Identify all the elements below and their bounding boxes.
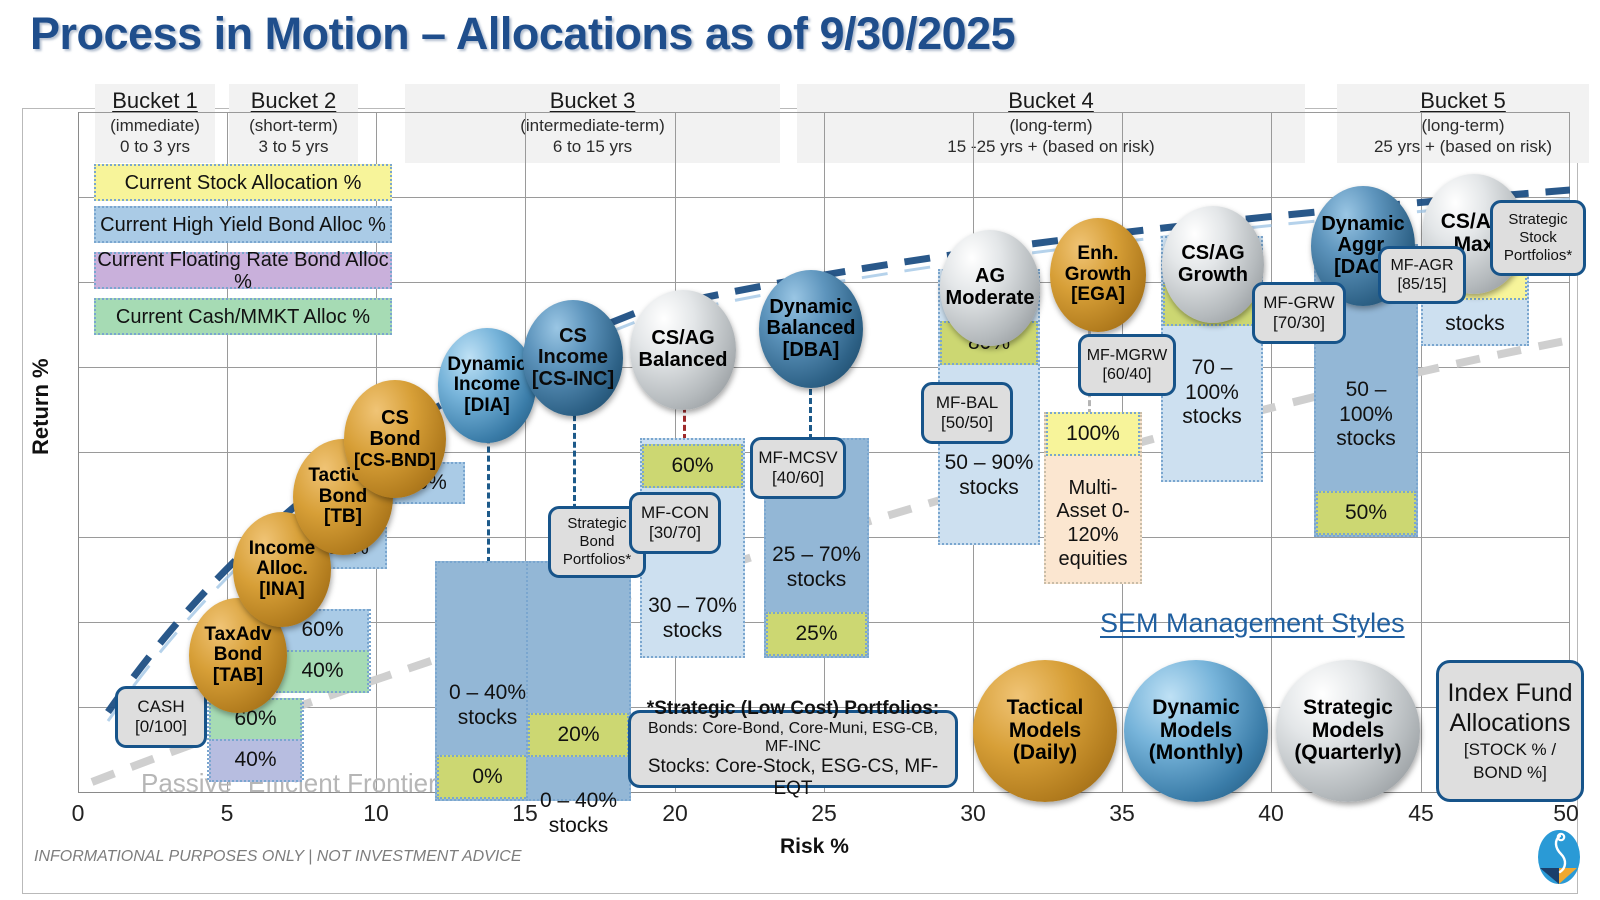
x-tick-20: 20 bbox=[662, 800, 688, 827]
callout-line: MF-MCSV bbox=[758, 448, 837, 468]
bar-enh-growth: 100% Multi-Asset 0-120% equities bbox=[1044, 412, 1142, 584]
bar-range-value: 50 – 90% stocks bbox=[940, 451, 1038, 501]
bar-range-label: Multi-Asset 0-120% equities bbox=[1046, 464, 1140, 584]
bubble-line: Dynamic bbox=[1321, 214, 1404, 236]
bubble-line: [CS-INC] bbox=[532, 369, 614, 391]
bubble-line: [TB] bbox=[324, 507, 362, 528]
callout-strategic-stock-portfolios[interactable]: Strategic Stock Portfolios* bbox=[1490, 200, 1586, 276]
bar-segment-stock: 25% bbox=[766, 612, 867, 656]
bar-value: 60% bbox=[301, 618, 343, 643]
callout-line: [50/50] bbox=[941, 413, 993, 433]
legend-label: Current Cash/MMKT Alloc % bbox=[116, 306, 370, 328]
x-tick-35: 35 bbox=[1109, 800, 1135, 827]
bar-range-label: 50 – 100% stocks bbox=[1316, 356, 1416, 474]
sem-bubble-dynamic-models[interactable]: Dynamic Models (Monthly) bbox=[1124, 660, 1268, 802]
bar-segment-stock: 0% bbox=[437, 755, 538, 799]
footnote-line2: Bonds: Core-Bond, Core-Muni, ESG-CB, MF-… bbox=[641, 720, 945, 756]
bar-segment-stock: 50% bbox=[1316, 491, 1416, 535]
sem-bubble-line: (Quarterly) bbox=[1294, 742, 1401, 765]
bubble-line: AG bbox=[975, 266, 1005, 288]
callout-line: [30/70] bbox=[649, 523, 701, 543]
y-axis-label: Return % bbox=[28, 358, 54, 455]
callout-line: MF-CON bbox=[641, 503, 709, 523]
bucket-title: Bucket 3 bbox=[411, 88, 774, 115]
callout-line: Strategic bbox=[1508, 211, 1567, 229]
footnote-line3: Stocks: Core-Stock, ESG-CS, MF-EQT bbox=[641, 756, 945, 800]
callout-mf-agr[interactable]: MF-AGR [85/15] bbox=[1378, 246, 1466, 304]
bubble-line: CS bbox=[381, 408, 409, 430]
bar-dynamic-income: 0 – 40% stocks 0% bbox=[435, 561, 540, 801]
callout-line: [85/15] bbox=[1398, 275, 1447, 294]
callout-mf-bal[interactable]: MF-BAL [50/50] bbox=[921, 382, 1013, 444]
x-tick-45: 45 bbox=[1408, 800, 1434, 827]
bubble-line: CS/AG bbox=[651, 328, 714, 350]
legend-label: Current Floating Rate Bond Alloc % bbox=[96, 249, 390, 293]
bubble-line: Balanced bbox=[767, 318, 856, 340]
bubble-line: CS/AG bbox=[1181, 243, 1244, 265]
callout-mf-con[interactable]: MF-CON [30/70] bbox=[629, 492, 721, 554]
bubble-line: TaxAdv bbox=[204, 625, 271, 646]
x-tick-40: 40 bbox=[1258, 800, 1284, 827]
legend-item-high-yield: Current High Yield Bond Alloc % bbox=[94, 206, 392, 243]
callout-line: MF-MGRW bbox=[1087, 346, 1168, 365]
bar-range-value: 25 – 70% stocks bbox=[766, 543, 867, 593]
bar-range-value: 50 – 100% stocks bbox=[1316, 378, 1416, 452]
bubble-csag-balanced[interactable]: CS/AG Balanced bbox=[630, 290, 736, 410]
bucket-title: Bucket 2 bbox=[235, 88, 352, 115]
x-tick-15: 15 bbox=[512, 800, 538, 827]
bubble-line: Moderate bbox=[946, 288, 1035, 310]
sem-bubble-tactical-models[interactable]: Tactical Models (Daily) bbox=[973, 660, 1117, 802]
company-logo-icon bbox=[1536, 828, 1582, 886]
callout-line: Portfolios* bbox=[563, 551, 631, 569]
bucket-title: Bucket 1 bbox=[101, 88, 209, 115]
x-tick-50: 50 bbox=[1553, 800, 1579, 827]
bar-range-label: 0 – 40% stocks bbox=[528, 759, 629, 869]
index-fund-allocations-box: Index Fund Allocations [STOCK % / BOND %… bbox=[1436, 660, 1584, 802]
bubble-dynamic-balanced[interactable]: Dynamic Balanced [DBA] bbox=[759, 270, 863, 388]
sem-bubble-line: (Daily) bbox=[1013, 742, 1077, 765]
bubble-line: [TAB] bbox=[213, 666, 263, 687]
bar-value: 40% bbox=[234, 748, 276, 773]
bubble-line: [EGA] bbox=[1071, 285, 1125, 306]
page-title: Process in Motion – Allocations as of 9/… bbox=[30, 8, 1015, 60]
index-box-line: Allocations bbox=[1450, 709, 1571, 739]
sem-bubble-line: Models bbox=[1312, 720, 1384, 743]
footnote-line1: *Strategic (Low Cost) Portfolios: bbox=[641, 698, 945, 720]
sem-heading: SEM Management Styles bbox=[1100, 608, 1405, 639]
cash-pill-line1: CASH bbox=[137, 697, 184, 717]
bar-range-label: 30 – 70% stocks bbox=[642, 582, 743, 656]
bubble-enh-growth[interactable]: Enh. Growth [EGA] bbox=[1050, 218, 1146, 332]
callout-line: MF-GRW bbox=[1263, 293, 1334, 313]
bubble-line: Income bbox=[454, 375, 521, 396]
bar-value: 25% bbox=[795, 622, 837, 647]
callout-line: [40/60] bbox=[772, 468, 824, 488]
bubble-cs-income[interactable]: CS Income [CS-INC] bbox=[523, 300, 623, 416]
bar-value: 60% bbox=[671, 454, 713, 479]
bubble-line: Dynamic bbox=[769, 297, 852, 319]
x-tick-25: 25 bbox=[811, 800, 837, 827]
bar-taxadv-bond: 60% 40% bbox=[207, 698, 304, 780]
callout-line: Stock bbox=[1519, 229, 1557, 247]
bucket-title: Bucket 5 bbox=[1343, 88, 1583, 115]
bubble-line: Dynamic bbox=[447, 355, 526, 376]
bar-value: 100% bbox=[1066, 422, 1120, 447]
callout-line: Bond bbox=[579, 533, 614, 551]
callout-line: Strategic bbox=[567, 515, 626, 533]
bubble-line: Enh. bbox=[1077, 244, 1118, 265]
bar-range-label: 70 – 100% stocks bbox=[1163, 334, 1261, 452]
bar-range-value: stocks bbox=[1445, 312, 1505, 337]
callout-line: MF-AGR bbox=[1390, 256, 1453, 275]
bar-segment-cash: 40% bbox=[276, 650, 369, 693]
bar-segment-stock: 60% bbox=[642, 444, 743, 488]
bar-range-label: 25 – 70% stocks bbox=[766, 522, 867, 614]
callout-line: [70/30] bbox=[1273, 313, 1325, 333]
bar-value: 0% bbox=[472, 765, 502, 790]
sem-bubble-line: Dynamic bbox=[1152, 697, 1240, 720]
callout-mf-mgrw[interactable]: MF-MGRW [60/40] bbox=[1078, 334, 1176, 396]
legend-label: Current Stock Allocation % bbox=[125, 172, 362, 194]
legend-item-floating-rate: Current Floating Rate Bond Alloc % bbox=[94, 252, 392, 289]
bar-range-value: 0 – 40% stocks bbox=[437, 681, 538, 731]
bubble-line: [DIA] bbox=[464, 396, 509, 417]
bar-value: 50% bbox=[1345, 501, 1387, 526]
disclaimer-text: INFORMATIONAL PURPOSES ONLY | NOT INVEST… bbox=[34, 848, 522, 866]
bar-value: 20% bbox=[557, 723, 599, 748]
index-box-line: BOND %] bbox=[1473, 763, 1547, 783]
bubble-dynamic-income[interactable]: Dynamic Income [DIA] bbox=[438, 328, 536, 443]
callout-mf-mcsv[interactable]: MF-MCSV [40/60] bbox=[750, 437, 846, 499]
x-tick-10: 10 bbox=[363, 800, 389, 827]
x-tick-0: 0 bbox=[72, 800, 85, 827]
x-tick-5: 5 bbox=[221, 800, 234, 827]
sem-bubble-line: Models bbox=[1160, 720, 1232, 743]
bar-segment-floating: 40% bbox=[209, 739, 302, 782]
bubble-line: [CS-BND] bbox=[354, 451, 436, 470]
callout-line: [60/40] bbox=[1103, 365, 1152, 384]
cash-pill[interactable]: CASH [0/100] bbox=[115, 686, 207, 748]
bar-cs-income: 20% 0 – 40% stocks bbox=[526, 561, 631, 801]
sem-bubble-strategic-models[interactable]: Strategic Models (Quarterly) bbox=[1276, 660, 1420, 802]
index-box-line: Index Fund bbox=[1447, 679, 1572, 709]
bubble-cs-bond[interactable]: CS Bond [CS-BND] bbox=[344, 380, 446, 498]
y-axis-line bbox=[78, 112, 79, 792]
bubble-line: Growth bbox=[1178, 265, 1248, 287]
bar-range-value: Multi-Asset 0-120% equities bbox=[1046, 477, 1140, 571]
legend-item-cash: Current Cash/MMKT Alloc % bbox=[94, 298, 392, 335]
bubble-line: Growth bbox=[1065, 265, 1132, 286]
bucket-title: Bucket 4 bbox=[803, 88, 1299, 115]
sem-bubble-line: Tactical bbox=[1007, 697, 1084, 720]
bubble-line: Bond bbox=[369, 429, 420, 451]
sem-bubble-line: Strategic bbox=[1303, 697, 1393, 720]
bubble-line: Income bbox=[538, 347, 608, 369]
bubble-line: Bond bbox=[319, 487, 368, 508]
callout-mf-grw[interactable]: MF-GRW [70/30] bbox=[1252, 282, 1346, 344]
bubble-line: Balanced bbox=[639, 350, 728, 372]
bar-segment-stock: 20% bbox=[528, 713, 629, 757]
callout-line: Portfolios* bbox=[1504, 247, 1572, 265]
index-box-line: [STOCK % / bbox=[1464, 740, 1556, 760]
cash-pill-line2: [0/100] bbox=[135, 717, 187, 737]
bubble-line: [INA] bbox=[259, 580, 304, 601]
bubble-line: Bond bbox=[214, 645, 263, 666]
gridline-h-top bbox=[78, 112, 1570, 113]
footnote-strategic-portfolios: *Strategic (Low Cost) Portfolios: Bonds:… bbox=[628, 710, 958, 788]
x-tick-30: 30 bbox=[960, 800, 986, 827]
bubble-csag-growth[interactable]: CS/AG Growth bbox=[1162, 206, 1264, 323]
bar-range-label: stocks bbox=[1423, 302, 1527, 346]
legend-item-stock: Current Stock Allocation % bbox=[94, 164, 392, 201]
bubble-line: Alloc. bbox=[256, 559, 308, 580]
x-axis-label: Risk % bbox=[780, 835, 849, 859]
callout-line: MF-BAL bbox=[936, 393, 998, 413]
bubble-ag-moderate[interactable]: AG Moderate bbox=[940, 230, 1040, 346]
bubble-line: CS bbox=[559, 326, 587, 348]
bar-range-label: 0 – 40% stocks bbox=[437, 651, 538, 761]
plot-area: Passive “Efficient Frontier” Current Sto… bbox=[78, 112, 1570, 792]
bar-range-value: 30 – 70% stocks bbox=[642, 594, 743, 644]
bar-range-value: 0 – 40% stocks bbox=[528, 789, 629, 839]
legend-label: Current High Yield Bond Alloc % bbox=[100, 214, 386, 236]
sem-bubble-line: Models bbox=[1009, 720, 1081, 743]
bar-segment-stock: 100% bbox=[1046, 412, 1140, 456]
bar-range-value: 70 – 100% stocks bbox=[1163, 356, 1261, 430]
bubble-line: Income bbox=[249, 539, 316, 560]
bar-value: 40% bbox=[301, 659, 343, 684]
sem-bubble-line: (Monthly) bbox=[1149, 742, 1243, 765]
bubble-line: [DBA] bbox=[783, 340, 840, 362]
